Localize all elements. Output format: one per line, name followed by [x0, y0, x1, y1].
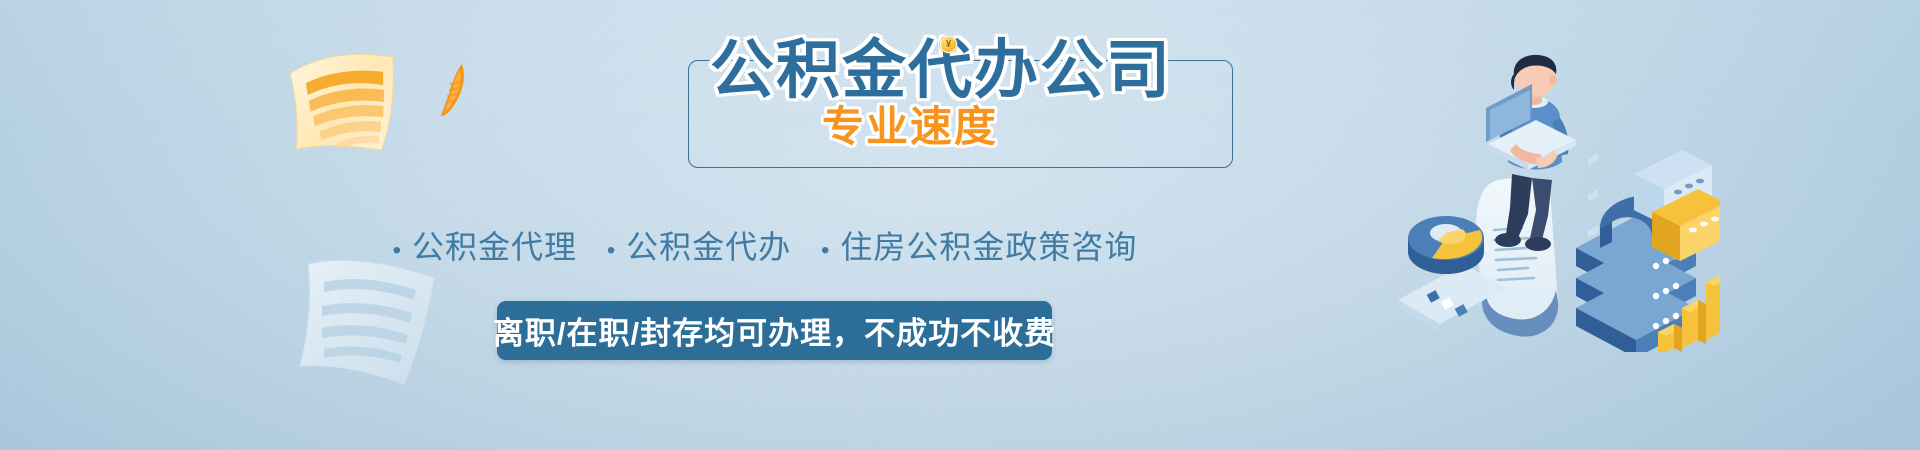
- background-document-icon: [296, 256, 446, 396]
- title-block: 公积金代办公司 ¥ 专业速度: [660, 38, 1260, 178]
- coin-icon: ¥: [940, 36, 957, 53]
- page-title: 公积金代办公司: [710, 38, 1230, 102]
- service-item-0: • 公积金代理: [393, 229, 577, 265]
- service-label-1: 公积金代办: [626, 229, 791, 265]
- service-label-2: 住房公积金政策咨询: [840, 229, 1137, 265]
- service-item-1: • 公积金代办: [607, 229, 791, 265]
- hero-illustration: [1390, 52, 1720, 357]
- flying-document-icon: [280, 39, 426, 173]
- cta-button[interactable]: 离职/在职/封存均可办理，不成功不收费: [497, 301, 1052, 360]
- pie-chart-icon: [1408, 216, 1484, 274]
- feather-swoosh-icon: [436, 62, 470, 123]
- promo-banner: 公积金代办公司 ¥ 专业速度 • 公积金代理 • 公积金代办 • 住房公积金政策…: [0, 0, 1920, 450]
- bullet-dot-icon: •: [821, 237, 830, 264]
- bullet-dot-icon: •: [607, 237, 616, 264]
- service-label-0: 公积金代理: [412, 229, 577, 265]
- title-subtitle: 专业速度: [822, 106, 998, 148]
- service-item-2: • 住房公积金政策咨询: [821, 229, 1137, 265]
- service-list: • 公积金代理 • 公积金代办 • 住房公积金政策咨询: [0, 222, 1530, 268]
- bullet-dot-icon: •: [393, 237, 402, 264]
